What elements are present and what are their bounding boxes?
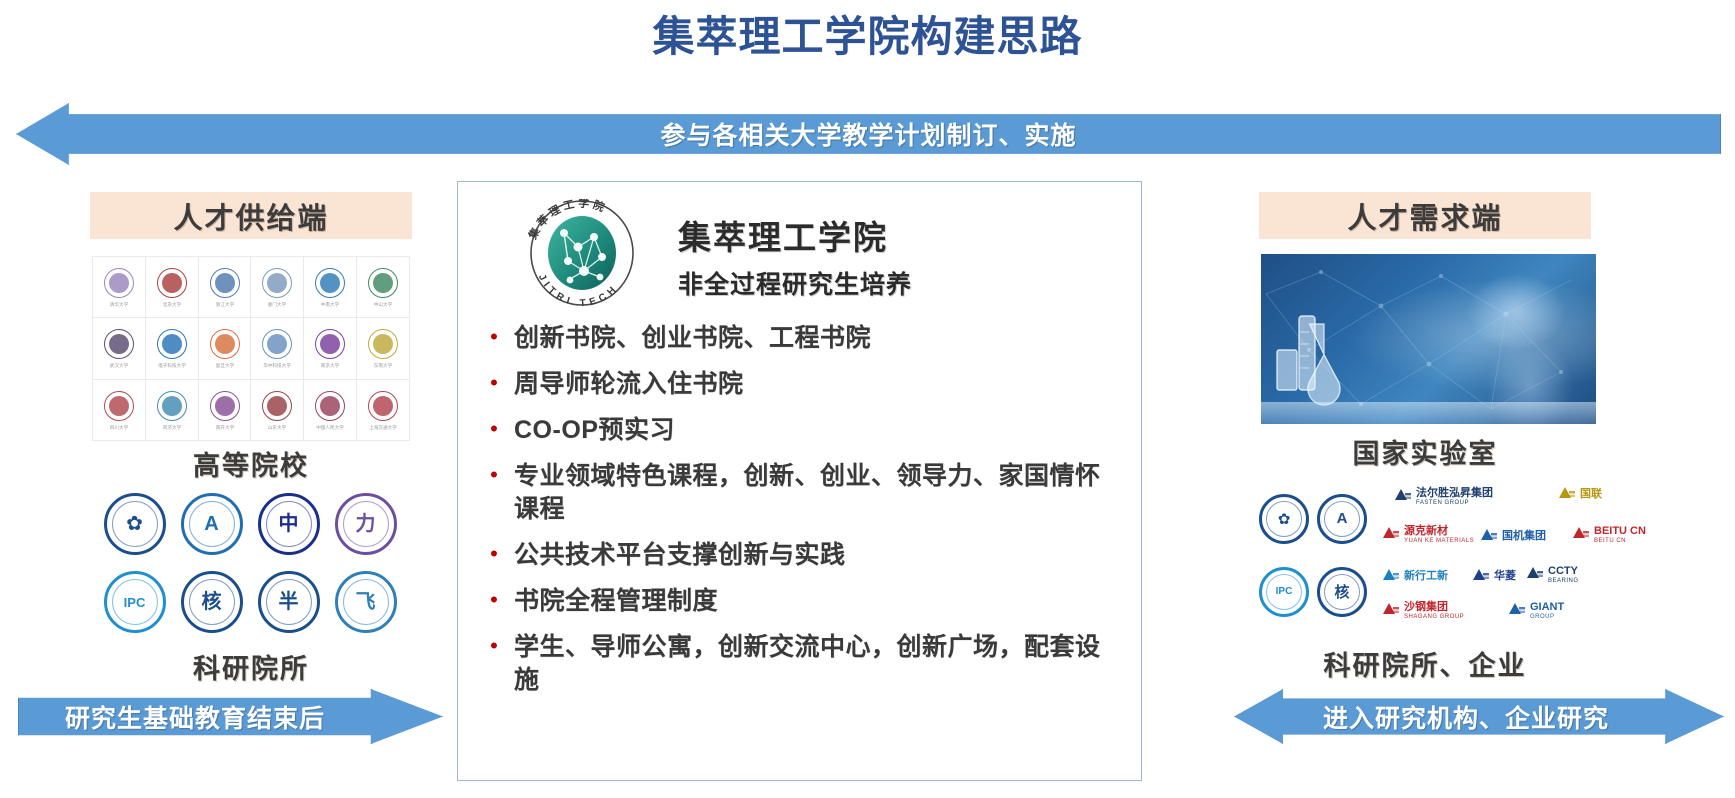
research-institute-cell: 核 [177,566,246,638]
center-panel: 集萃理工学院 JITRI TECH 集萃理工学院 非全过程研究生培养 •创新书院… [457,181,1142,781]
partner-institute-seal-icon: 核 [1317,567,1367,617]
research-institute-cell: 中 [254,488,323,560]
company-name-label: 沙钢集团SHAGANG GROUP [1404,602,1464,620]
university-name-label: 同济大学 [163,424,181,430]
company-name-en: YUAN KE MATERIALS [1404,538,1474,544]
company-logo: 源克新材YUAN KE MATERIALS [1382,525,1474,545]
bullet-dot-icon: • [486,539,502,569]
university-seal-icon [366,389,400,423]
company-name-cn: 国联 [1580,488,1602,500]
university-seal-icon [208,327,242,361]
university-seal-icon [155,389,189,423]
feature-bullet-item: •创新书院、创业书院、工程书院 [486,322,1115,355]
seal-glyph: 核 [1334,581,1349,602]
company-name-en: BEITU CN [1594,538,1646,544]
university-logo-cell: 南开大学 [199,380,251,440]
feature-bullet-text: 公共技术平台支撑创新与实践 [514,539,846,572]
university-seal-icon [313,389,347,423]
demand-flow-arrow-label: 进入研究机构、企业研究 [1323,699,1609,735]
lab-bench [1261,402,1596,424]
feature-bullet-item: •学生、导师公寓，创新交流中心，创新广场，配套设施 [486,631,1115,697]
partner-institute-seals: ✿AIPC核 [1258,485,1368,625]
feature-bullet-item: •周导师轮流入住书院 [486,368,1115,401]
seal-glyph: IPC [1276,586,1293,597]
top-arrow-banner: 参与各相关大学教学计划制订、实施 [16,103,1721,165]
bullet-dot-icon: • [486,585,502,615]
university-name-label: 浙江大学 [215,301,233,307]
seal-glyph: A [1337,510,1348,527]
corporate-partners-area: ✿AIPC核 法尔胜泓昇集团FASTEN GROUP国联源克新材YUAN KE … [1258,483,1598,628]
brand-title: 集萃理工学院 [678,211,912,259]
research-institute-cell: ✿ [100,488,169,560]
university-name-label: 南京大学 [321,363,339,369]
feature-bullet-text: 学生、导师公寓，创新交流中心，创新广场，配套设施 [514,631,1115,697]
feature-bullet-item: •专业领域特色课程，创新、创业、领导力、家国情怀课程 [486,460,1115,526]
company-logo: CCTYBEARING [1526,565,1579,585]
national-lab-label: 国家实验室 [1259,432,1591,471]
research-institute-label: 科研院所 [92,647,410,686]
university-logo-cell: 北京大学 [146,257,198,317]
feature-bullet-text: 书院全程管理制度 [514,585,718,618]
university-name-label: 复旦大学 [215,363,233,369]
university-name-label: 南开大学 [215,424,233,430]
company-logo: 沙钢集团SHAGANG GROUP [1382,601,1464,621]
university-name-label: 中国人民大学 [316,424,344,430]
feature-bullet-text: 创新书院、创业书院、工程书院 [514,322,871,355]
company-logo-mark-icon [1382,567,1400,587]
university-name-label: 四川大学 [110,424,128,430]
university-logo-cell: 中山大学 [357,257,409,317]
company-name-en: SHAGANG GROUP [1404,614,1464,620]
company-logo-mark-icon [1526,565,1544,585]
research-institute-logo-grid: ✿A中力IPC核半飞 [100,488,400,638]
university-logo-cell: 中国人民大学 [304,380,356,440]
company-name-cn: CCTY [1548,565,1578,577]
company-name-en: GROUP [1530,614,1564,620]
feature-bullet-text: 周导师轮流入住书院 [514,368,744,401]
partner-institute-cell: IPC [1258,558,1310,625]
company-name-cn: 法尔胜泓昇集团 [1416,487,1493,499]
university-logo-cell: 山东大学 [251,380,303,440]
university-seal-icon [313,327,347,361]
university-seal-icon [366,327,400,361]
research-institute-cell: 力 [331,488,400,560]
university-logo-grid: 清华大学北京大学浙江大学厦门大学中南大学中山大学武汉大学电子科技大学复旦大学华中… [92,256,410,441]
page-title: 集萃理工学院构建思路 [0,8,1735,66]
company-logo-mark-icon [1394,487,1412,507]
partner-institute-cell: A [1316,485,1368,552]
university-seal-icon [155,327,189,361]
research-institute-seal-icon: 核 [181,571,243,633]
university-logo-cell: 复旦大学 [199,318,251,378]
supply-side-header: 人才供给端 [90,192,412,239]
brand-text-block: 集萃理工学院 非全过程研究生培养 [678,205,912,301]
university-logo-cell: 上海交通大学 [357,380,409,440]
company-name-label: 新行工新 [1404,571,1448,583]
seal-glyph: 核 [202,592,222,612]
university-seal-icon [102,266,136,300]
research-institute-cell: IPC [100,566,169,638]
university-seal-icon [102,327,136,361]
partner-institute-seal-icon: IPC [1259,567,1309,617]
university-logo-cell: 武汉大学 [93,318,145,378]
company-name-cn: 华菱 [1494,570,1516,582]
university-seal-icon [260,266,294,300]
research-institute-seal-icon: 半 [258,571,320,633]
slide-root: 集萃理工学院构建思路 参与各相关大学教学计划制订、实施 人才供给端 清华大学北京… [0,0,1735,798]
demand-flow-arrow: 进入研究机构、企业研究 [1234,689,1724,744]
university-name-label: 中山大学 [374,301,392,307]
company-name-label: BEITU CNBEITU CN [1594,526,1646,544]
university-logo-cell: 华中科技大学 [251,318,303,378]
bullet-dot-icon: • [486,460,502,490]
feature-bullet-item: •书院全程管理制度 [486,585,1115,618]
university-name-label: 北京大学 [163,301,181,307]
bullet-dot-icon: • [486,414,502,444]
seal-glyph: A [204,514,218,534]
research-institute-cell: A [177,488,246,560]
company-name-cn: GIANT [1530,601,1564,613]
research-institute-seal-icon: A [181,493,243,555]
university-logo-cell: 中南大学 [304,257,356,317]
seal-glyph: ✿ [1278,510,1291,528]
supply-flow-arrow: 研究生基础教育结束后 [18,689,443,744]
university-logo-cell: 东南大学 [357,318,409,378]
seal-glyph: ✿ [126,514,143,534]
company-logo-mark-icon [1508,601,1526,621]
bullet-dot-icon: • [486,368,502,398]
company-name-label: 国联 [1580,489,1602,501]
seal-glyph: 飞 [356,592,376,612]
university-logo-cell: 清华大学 [93,257,145,317]
company-logo: 国联 [1558,485,1602,505]
scientist-figure [1412,264,1596,424]
jitri-tech-logo: 集萃理工学院 JITRI TECH [506,198,658,308]
seal-glyph: 半 [279,592,299,612]
company-logo-mark-icon [1472,567,1490,587]
company-name-label: 国机集团 [1502,531,1546,543]
research-institute-seal-icon: 力 [335,493,397,555]
university-seal-icon [260,327,294,361]
company-logo-mark-icon [1480,527,1498,547]
feature-bullet-text: CO-OP预实习 [514,414,675,447]
supply-flow-arrow-label: 研究生基础教育结束后 [65,699,325,735]
company-logo-mark-icon [1382,525,1400,545]
company-name-cn: 源克新材 [1404,525,1448,537]
bullet-dot-icon: • [486,322,502,352]
seal-glyph: 中 [279,514,299,534]
company-name-label: CCTYBEARING [1548,566,1579,584]
university-seal-icon [208,266,242,300]
university-name-label: 厦门大学 [268,301,286,307]
university-logo-cell: 南京大学 [304,318,356,378]
company-logo: 华菱 [1472,567,1516,587]
top-arrow-label: 参与各相关大学教学计划制订、实施 [660,116,1076,152]
company-name-en: FASTEN GROUP [1416,500,1493,506]
research-institute-seal-icon: IPC [104,571,166,633]
university-seal-icon [155,266,189,300]
jitri-tech-logo-svg: 集萃理工学院 JITRI TECH [508,199,656,307]
company-name-label: GIANTGROUP [1530,602,1564,620]
partner-institute-seal-icon: ✿ [1259,494,1309,544]
company-logo: 国机集团 [1480,527,1546,547]
research-institute-seal-icon: 飞 [335,571,397,633]
company-name-cn: BEITU CN [1594,525,1646,537]
university-logo-cell: 电子科技大学 [146,318,198,378]
university-seal-icon [102,389,136,423]
national-lab-photo [1261,254,1596,424]
company-name-cn: 沙钢集团 [1404,601,1448,613]
company-logo-mark-icon [1558,485,1576,505]
higher-education-label: 高等院校 [92,444,410,483]
university-logo-cell: 厦门大学 [251,257,303,317]
university-name-label: 东南大学 [374,363,392,369]
partner-company-logos: 法尔胜泓昇集团FASTEN GROUP国联源克新材YUAN KE MATERIA… [1376,483,1598,628]
university-name-label: 电子科技大学 [158,363,186,369]
university-seal-icon [366,266,400,300]
feature-bullet-item: •公共技术平台支撑创新与实践 [486,539,1115,572]
university-name-label: 中南大学 [321,301,339,307]
research-institute-seal-icon: ✿ [104,493,166,555]
company-logo-mark-icon [1572,525,1590,545]
company-name-en: BEARING [1548,578,1579,584]
company-name-label: 法尔胜泓昇集团FASTEN GROUP [1416,488,1493,506]
university-logo-cell: 同济大学 [146,380,198,440]
company-name-label: 源克新材YUAN KE MATERIALS [1404,526,1474,544]
research-institute-cell: 飞 [331,566,400,638]
bullet-dot-icon: • [486,631,502,661]
feature-bullet-text: 专业领域特色课程，创新、创业、领导力、家国情怀课程 [514,460,1115,526]
university-name-label: 上海交通大学 [369,424,397,430]
university-name-label: 清华大学 [110,301,128,307]
company-name-label: 华菱 [1494,571,1516,583]
company-logo: 新行工新 [1382,567,1448,587]
feature-bullet-item: •CO-OP预实习 [486,414,1115,447]
research-institute-seal-icon: 中 [258,493,320,555]
company-logo-mark-icon [1382,601,1400,621]
company-name-cn: 国机集团 [1502,530,1546,542]
company-logo: GIANTGROUP [1508,601,1564,621]
university-seal-icon [313,266,347,300]
company-logo: 法尔胜泓昇集团FASTEN GROUP [1394,487,1493,507]
university-seal-icon [260,389,294,423]
demand-side-header: 人才需求端 [1259,192,1591,239]
seal-glyph: 力 [356,514,376,534]
partner-institute-cell: ✿ [1258,485,1310,552]
company-logo: BEITU CNBEITU CN [1572,525,1646,545]
feature-bullet-list: •创新书院、创业书院、工程书院•周导师轮流入住书院•CO-OP预实习•专业领域特… [458,314,1141,697]
brand-row: 集萃理工学院 JITRI TECH 集萃理工学院 非全过程研究生培养 [458,182,1141,314]
corporate-institute-label: 科研院所、企业 [1259,644,1591,683]
university-logo-cell: 浙江大学 [199,257,251,317]
university-name-label: 武汉大学 [110,363,128,369]
seal-glyph: IPC [124,596,146,609]
partner-institute-seal-icon: A [1317,494,1367,544]
university-name-label: 山东大学 [268,424,286,430]
research-institute-cell: 半 [254,566,323,638]
university-logo-cell: 四川大学 [93,380,145,440]
brand-subtitle: 非全过程研究生培养 [678,265,912,301]
company-name-cn: 新行工新 [1404,570,1448,582]
university-seal-icon [208,389,242,423]
partner-institute-cell: 核 [1316,558,1368,625]
university-name-label: 华中科技大学 [264,363,292,369]
lab-glassware [1273,298,1393,418]
